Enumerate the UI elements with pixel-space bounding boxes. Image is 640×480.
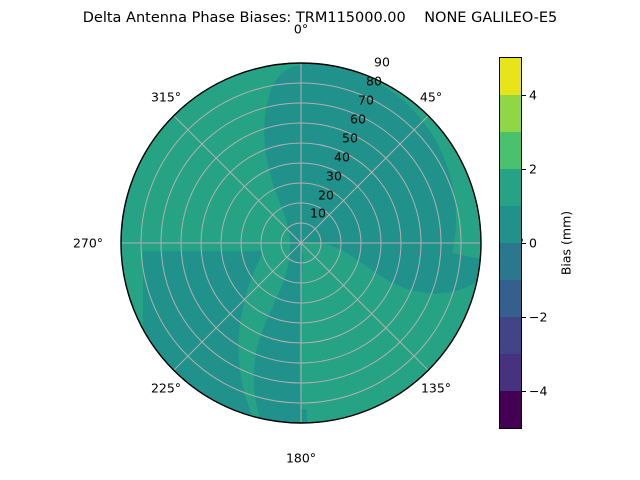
colorbar-band-1-2 bbox=[500, 169, 521, 206]
colorbar-band-m1-0 bbox=[500, 243, 521, 280]
r-tick-80: 80 bbox=[366, 75, 382, 88]
theta-tick-0: 0° bbox=[294, 23, 308, 36]
r-tick-60: 60 bbox=[350, 113, 366, 126]
colorbar-tick-mark-m2 bbox=[522, 317, 526, 318]
colorbar-band-m4-m3 bbox=[500, 354, 521, 391]
colorbar-band-m2-m1 bbox=[500, 280, 521, 317]
colorbar-band-3-4 bbox=[500, 95, 521, 132]
theta-tick-270: 270° bbox=[73, 237, 103, 250]
colorbar-tick-label-m2: −2 bbox=[529, 311, 547, 324]
r-tick-40: 40 bbox=[334, 151, 350, 164]
theta-tick-45: 45° bbox=[420, 91, 442, 104]
colorbar-tick-mark-4 bbox=[522, 95, 526, 96]
theta-tick-135: 135° bbox=[421, 382, 451, 395]
colorbar-tick-mark-2 bbox=[522, 169, 526, 170]
r-tick-30: 30 bbox=[326, 170, 342, 183]
r-tick-20: 20 bbox=[318, 189, 334, 202]
colorbar-axis-label: Bias (mm) bbox=[560, 211, 573, 275]
colorbar-band-4-5 bbox=[500, 58, 521, 95]
colorbar-tick-label-m4: −4 bbox=[529, 385, 547, 398]
theta-tick-315: 315° bbox=[151, 91, 181, 104]
colorbar-tick-label-4: 4 bbox=[529, 89, 537, 102]
polar-plot: 0° 45° 90° 135° 180° 225° 270° 315° 10 2… bbox=[113, 55, 489, 431]
colorbar-band-m5-m4 bbox=[500, 391, 521, 428]
colorbar-tick-label-0: 0 bbox=[529, 237, 537, 250]
colorbar-gradient bbox=[499, 57, 522, 429]
r-tick-90: 90 bbox=[374, 56, 390, 69]
colorbar-tick-label-2: 2 bbox=[529, 163, 537, 176]
colorbar: 4 2 0 −2 −4 bbox=[499, 57, 522, 429]
colorbar-tick-mark-0 bbox=[522, 243, 526, 244]
polar-contour-svg bbox=[113, 55, 489, 431]
r-tick-50: 50 bbox=[342, 132, 358, 145]
colorbar-band-0-1 bbox=[500, 206, 521, 243]
page-title: Delta Antenna Phase Biases: TRM115000.00… bbox=[0, 9, 640, 27]
polar-grid-spokes bbox=[121, 63, 481, 423]
colorbar-band-2-3 bbox=[500, 132, 521, 169]
colorbar-band-m3-m2 bbox=[500, 317, 521, 354]
r-tick-70: 70 bbox=[358, 94, 374, 107]
colorbar-tick-mark-m4 bbox=[522, 391, 526, 392]
theta-tick-225: 225° bbox=[151, 382, 181, 395]
r-tick-10: 10 bbox=[310, 207, 326, 220]
theta-tick-180: 180° bbox=[286, 452, 316, 465]
